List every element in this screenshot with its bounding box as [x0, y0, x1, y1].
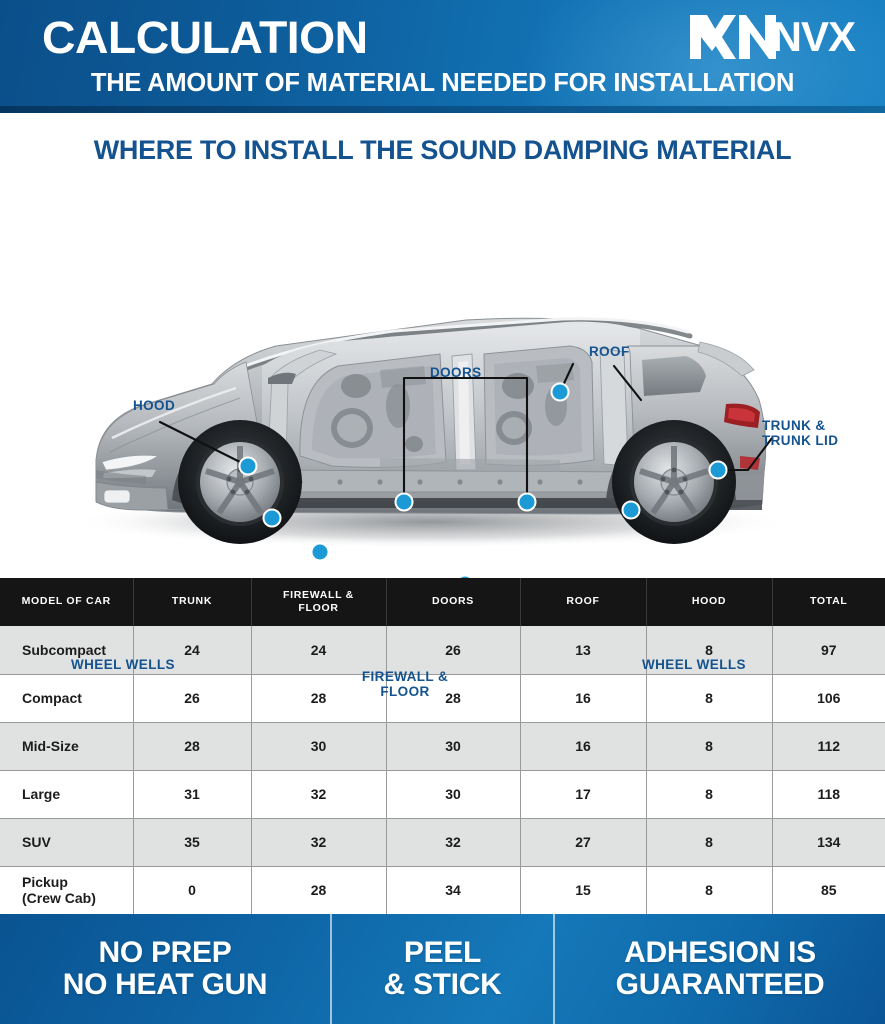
cell-total: 118: [772, 770, 885, 818]
cell-firewall-floor: 24: [251, 626, 386, 674]
table-header-row: MODEL OF CAR TRUNK FIREWALL & FLOOR DOOR…: [0, 578, 885, 626]
label-wheel-wells-front: WHEEL WELLS: [71, 657, 175, 672]
table-row: Large 31 32 30 17 8 118: [0, 770, 885, 818]
cell-trunk: 31: [133, 770, 251, 818]
banner-no-prep-no-heat-gun: NO PREP NO HEAT GUN: [0, 914, 330, 1024]
header-top-row: CALCULATION NVX: [0, 8, 885, 66]
cell-hood: 8: [646, 770, 772, 818]
cell-firewall-floor: 28: [251, 866, 386, 914]
cell-total: 134: [772, 818, 885, 866]
cell-total: 85: [772, 866, 885, 914]
page-title: CALCULATION: [42, 15, 368, 60]
cell-trunk: 26: [133, 674, 251, 722]
header-bottom-row: THE AMOUNT OF MATERIAL NEEDED FOR INSTAL…: [0, 69, 885, 97]
col-firewall-floor: FIREWALL & FLOOR: [251, 578, 386, 626]
cell-total: 106: [772, 674, 885, 722]
label-roof: ROOF: [589, 344, 630, 359]
col-trunk: TRUNK: [133, 578, 251, 626]
col-total: TOTAL: [772, 578, 885, 626]
cell-doors: 30: [386, 722, 520, 770]
page-header: CALCULATION NVX THE AMOUNT OF MATERIAL N…: [0, 0, 885, 113]
feature-banner: NO PREP NO HEAT GUN PEEL & STICK ADHESIO…: [0, 914, 885, 1024]
col-doors: DOORS: [386, 578, 520, 626]
cell-roof: 15: [520, 866, 646, 914]
cell-trunk: 35: [133, 818, 251, 866]
banner-adhesion-guaranteed: ADHESION IS GUARANTEED: [555, 914, 885, 1024]
cell-doors: 32: [386, 818, 520, 866]
label-trunk-and-trunk-lid: TRUNK & TRUNK LID: [762, 418, 838, 448]
table-row: SUV 35 32 32 27 8 134: [0, 818, 885, 866]
cell-roof: 27: [520, 818, 646, 866]
section-heading: WHERE TO INSTALL THE SOUND DAMPING MATER…: [0, 113, 885, 170]
cell-hood: 8: [646, 722, 772, 770]
page-subtitle: THE AMOUNT OF MATERIAL NEEDED FOR INSTAL…: [0, 69, 885, 97]
label-hood: HOOD: [133, 398, 175, 413]
cell-doors: 26: [386, 626, 520, 674]
cell-hood: 8: [646, 818, 772, 866]
cell-roof: 17: [520, 770, 646, 818]
brand-logo: NVX: [690, 13, 855, 61]
cell-doors: 34: [386, 866, 520, 914]
cell-model: Compact: [0, 674, 133, 722]
cell-trunk: 28: [133, 722, 251, 770]
rear-wheel: [612, 420, 736, 544]
cell-firewall-floor: 32: [251, 818, 386, 866]
col-hood: HOOD: [646, 578, 772, 626]
label-wheel-wells-rear: WHEEL WELLS: [642, 657, 746, 672]
cell-total: 97: [772, 626, 885, 674]
cell-model: Large: [0, 770, 133, 818]
label-firewall-and-floor: FIREWALL & FLOOR: [345, 669, 465, 699]
material-requirements-table: MODEL OF CAR TRUNK FIREWALL & FLOOR DOOR…: [0, 578, 885, 914]
cell-hood: 8: [646, 866, 772, 914]
cell-roof: 13: [520, 626, 646, 674]
cell-roof: 16: [520, 674, 646, 722]
cell-firewall-floor: 32: [251, 770, 386, 818]
table-row: Mid-Size 28 30 30 16 8 112: [0, 722, 885, 770]
cell-model: Mid-Size: [0, 722, 133, 770]
cell-total: 112: [772, 722, 885, 770]
table-row: Pickup (Crew Cab) 0 28 34 15 8 85: [0, 866, 885, 914]
cell-firewall-floor: 30: [251, 722, 386, 770]
cell-roof: 16: [520, 722, 646, 770]
car-diagram: HOOD DOORS ROOF TRUNK & TRUNK LID WHEEL …: [0, 170, 885, 578]
front-wheel: [178, 420, 302, 544]
header-divider: [0, 106, 885, 113]
cell-model: Pickup (Crew Cab): [0, 866, 133, 914]
cell-model: SUV: [0, 818, 133, 866]
table-header: MODEL OF CAR TRUNK FIREWALL & FLOOR DOOR…: [0, 578, 885, 626]
material-table-wrapper: MODEL OF CAR TRUNK FIREWALL & FLOOR DOOR…: [0, 578, 885, 914]
label-doors: DOORS: [430, 365, 482, 380]
brand-logo-text: NVX: [772, 16, 855, 58]
col-roof: ROOF: [520, 578, 646, 626]
cell-hood: 8: [646, 674, 772, 722]
cell-trunk: 0: [133, 866, 251, 914]
col-model-of-car: MODEL OF CAR: [0, 578, 133, 626]
x-logo-icon: [690, 13, 776, 61]
cell-doors: 30: [386, 770, 520, 818]
banner-peel-and-stick: PEEL & STICK: [330, 914, 555, 1024]
